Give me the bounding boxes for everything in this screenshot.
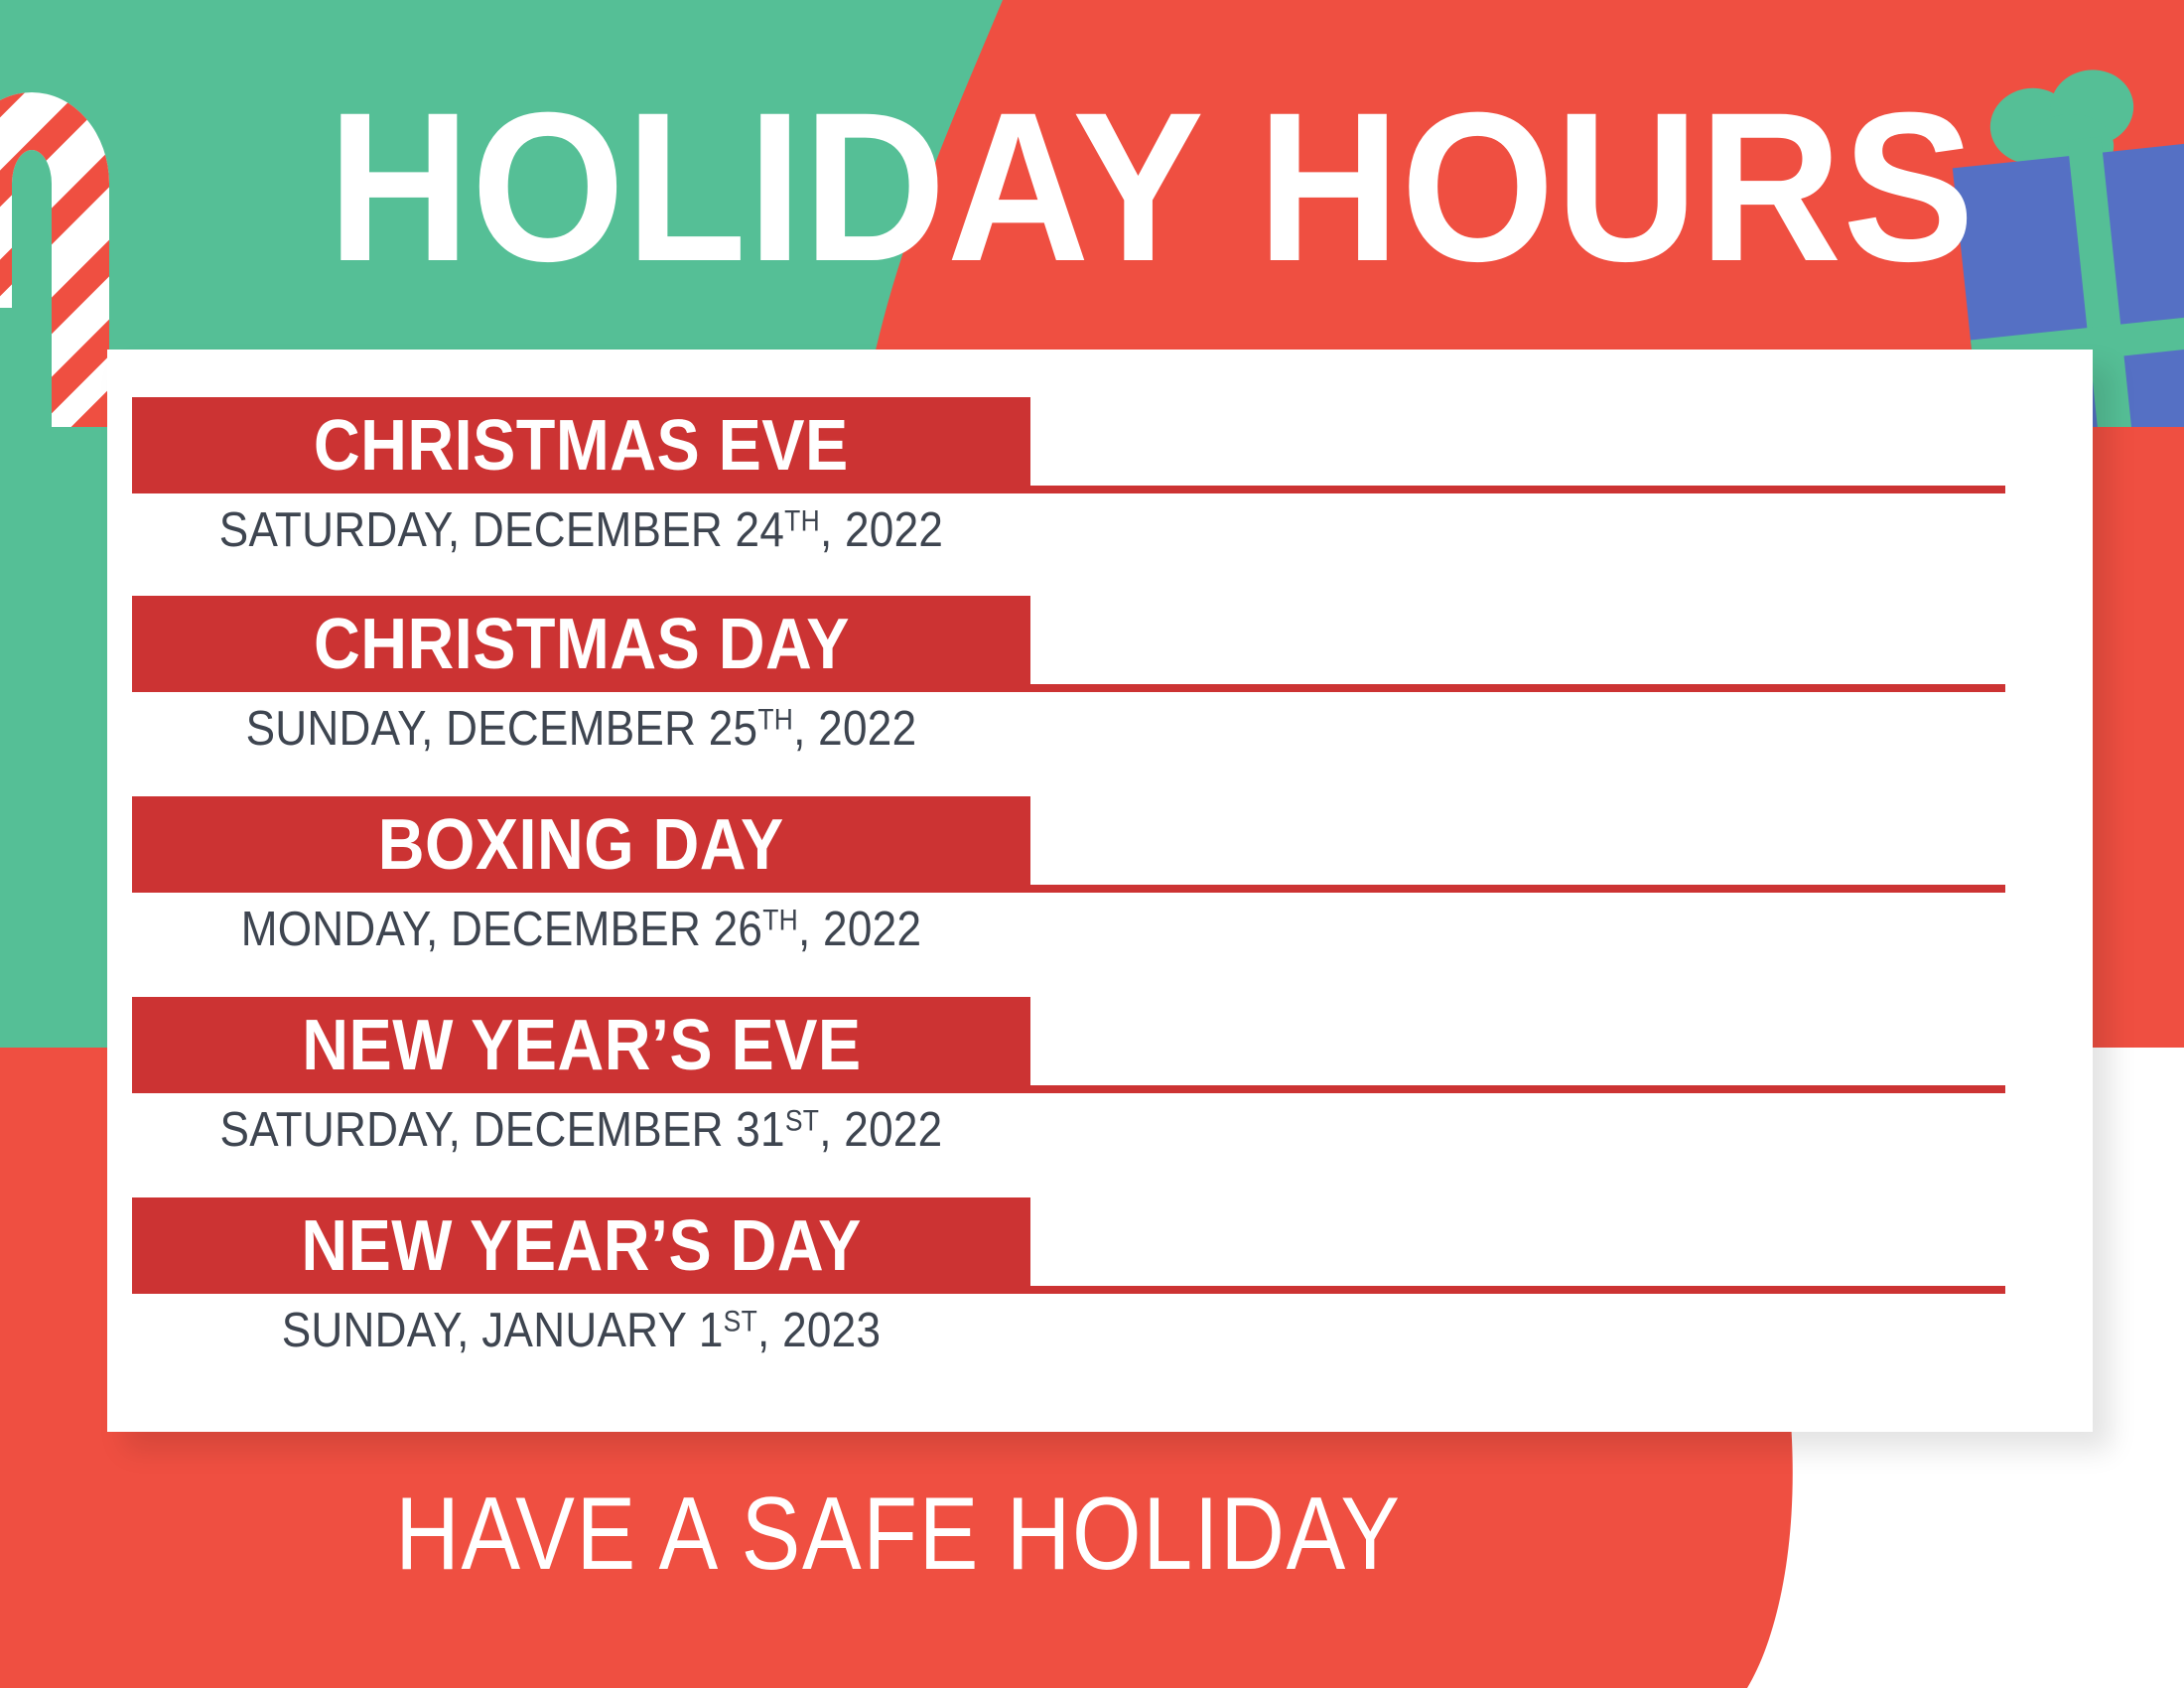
table-row: CHRISTMAS DAY SUNDAY, DECEMBER 25TH, 202…	[107, 596, 2093, 794]
holiday-date: SATURDAY, DECEMBER 24TH, 2022	[177, 500, 986, 560]
date-weekday: SUNDAY, JANUARY 1	[282, 1304, 724, 1357]
holiday-banner: NEW YEAR’S DAY	[132, 1197, 1030, 1294]
holiday-name: CHRISTMAS EVE	[314, 410, 849, 482]
hours-rule-line	[1030, 1085, 2005, 1093]
hours-rule-line	[1030, 684, 2005, 692]
holiday-banner: NEW YEAR’S EVE	[132, 997, 1030, 1093]
hours-rule-line	[1030, 486, 2005, 493]
hours-rule-line	[1030, 1286, 2005, 1294]
holiday-name: BOXING DAY	[378, 809, 784, 881]
table-row: NEW YEAR’S DAY SUNDAY, JANUARY 1ST, 2023	[107, 1197, 2093, 1396]
holiday-date: SUNDAY, DECEMBER 25TH, 2022	[177, 699, 986, 759]
hours-rule-line	[1030, 885, 2005, 893]
date-weekday: SATURDAY, DECEMBER 24	[219, 503, 784, 557]
schedule-rows: CHRISTMAS EVE SATURDAY, DECEMBER 24TH, 2…	[107, 350, 2093, 1432]
date-year: , 2022	[798, 903, 921, 956]
date-year: , 2022	[793, 702, 916, 756]
date-ordinal: ST	[785, 1105, 819, 1138]
date-weekday: SATURDAY, DECEMBER 31	[220, 1103, 785, 1157]
holiday-date: SUNDAY, JANUARY 1ST, 2023	[177, 1301, 986, 1360]
date-ordinal: TH	[762, 905, 798, 937]
date-ordinal: TH	[784, 505, 820, 538]
holiday-banner: BOXING DAY	[132, 796, 1030, 893]
date-ordinal: ST	[724, 1306, 757, 1338]
schedule-card: CHRISTMAS EVE SATURDAY, DECEMBER 24TH, 2…	[107, 350, 2093, 1432]
date-year: , 2022	[820, 503, 943, 557]
holiday-name: CHRISTMAS DAY	[314, 609, 850, 680]
table-row: CHRISTMAS EVE SATURDAY, DECEMBER 24TH, 2…	[107, 397, 2093, 596]
date-weekday: MONDAY, DECEMBER 26	[241, 903, 762, 956]
holiday-name: NEW YEAR’S DAY	[301, 1210, 861, 1282]
holiday-date: SATURDAY, DECEMBER 31ST, 2022	[177, 1100, 986, 1160]
date-ordinal: TH	[757, 704, 793, 737]
date-weekday: SUNDAY, DECEMBER 25	[246, 702, 758, 756]
holiday-hours-poster: HOLIDAY HOURS CHRISTMAS EVE SATURDAY, DE…	[0, 0, 2184, 1688]
date-year: , 2022	[819, 1103, 942, 1157]
table-row: BOXING DAY MONDAY, DECEMBER 26TH, 2022	[107, 796, 2093, 995]
holiday-banner: CHRISTMAS DAY	[132, 596, 1030, 692]
date-year: , 2023	[757, 1304, 881, 1357]
table-row: NEW YEAR’S EVE SATURDAY, DECEMBER 31ST, …	[107, 997, 2093, 1196]
footer-message: HAVE A SAFE HOLIDAY	[126, 1479, 1672, 1589]
holiday-banner: CHRISTMAS EVE	[132, 397, 1030, 493]
page-title: HOLIDAY HOURS	[328, 83, 1805, 292]
holiday-date: MONDAY, DECEMBER 26TH, 2022	[177, 900, 986, 959]
holiday-name: NEW YEAR’S EVE	[302, 1010, 861, 1081]
